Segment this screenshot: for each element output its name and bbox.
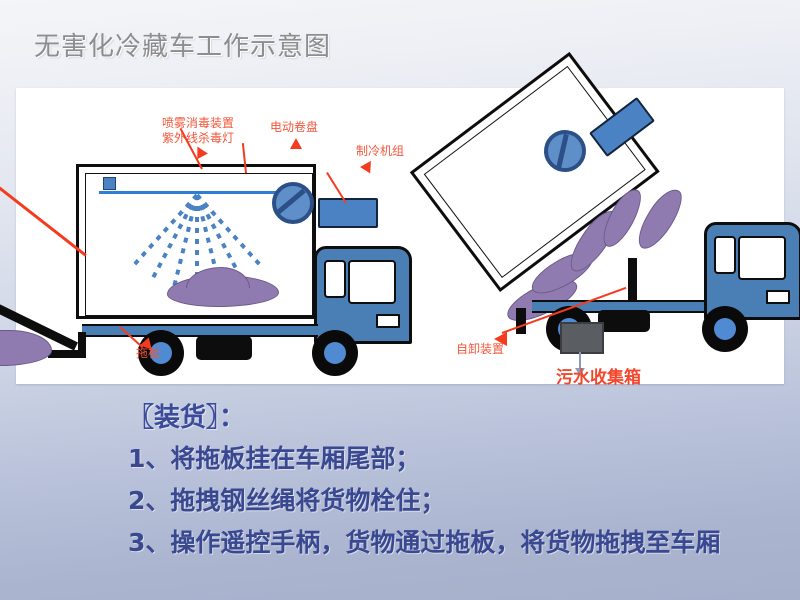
instruction-step-3: 3、操作遥控手柄，货物通过拖板，将货物拖拽至车厢	[128, 522, 788, 564]
cab-side-window	[714, 236, 736, 274]
label-refrigeration-unit: 制冷机组	[356, 144, 404, 159]
wheel-spoke	[715, 328, 735, 330]
cab-front-window	[738, 236, 786, 280]
carcass-in-box	[167, 275, 279, 307]
electric-reel-icon	[272, 182, 314, 224]
instruction-step-1: 1、将拖板挂在车厢尾部；	[128, 438, 788, 480]
truck-unloading-illustration	[486, 110, 796, 370]
cab-light	[376, 314, 400, 328]
label-waste-water-tank: 污水收集箱	[556, 371, 641, 386]
cab-front-window	[348, 260, 396, 304]
front-wheel	[702, 306, 748, 352]
instructions-heading: 〖装货〗：	[128, 398, 788, 438]
fuel-tank	[196, 336, 252, 360]
diagram-panel: 喷雾消毒装置 紫外线杀毒灯 电动卷盘 制冷机组 拖板	[16, 88, 784, 384]
lift-arm	[628, 258, 637, 306]
label-spray-disinfect: 喷雾消毒装置 紫外线杀毒灯	[162, 116, 234, 146]
pointer-arrowhead	[290, 138, 302, 149]
rear-hook-bar	[48, 350, 82, 358]
cab-side-window	[324, 260, 346, 298]
pointer-arrowhead	[494, 332, 507, 346]
page-title: 无害化冷藏车工作示意图	[34, 26, 331, 63]
front-wheel	[312, 330, 358, 376]
waste-water-box	[560, 322, 604, 354]
instructions-block: 〖装货〗： 1、将拖板挂在车厢尾部； 2、拖拽钢丝绳将货物栓住； 3、操作遥控手…	[128, 398, 788, 564]
wheel-spoke	[325, 352, 345, 354]
slide-canvas: 无害化冷藏车工作示意图	[0, 0, 800, 600]
refrigeration-unit	[318, 198, 378, 228]
instruction-step-2: 2、拖拽钢丝绳将货物栓住；	[128, 480, 788, 522]
wheel-spoke	[334, 343, 336, 363]
winch-cable	[0, 175, 87, 256]
cab-light	[766, 290, 790, 304]
tipped-refrigerated-box	[410, 52, 660, 292]
uv-lamp-nozzle-icon	[103, 177, 116, 190]
wheel-spoke	[724, 319, 726, 339]
rear-hook	[516, 308, 526, 334]
fuel-tank	[598, 310, 650, 332]
label-electric-reel: 电动卷盘	[270, 120, 318, 135]
wheel-spoke	[160, 343, 162, 363]
